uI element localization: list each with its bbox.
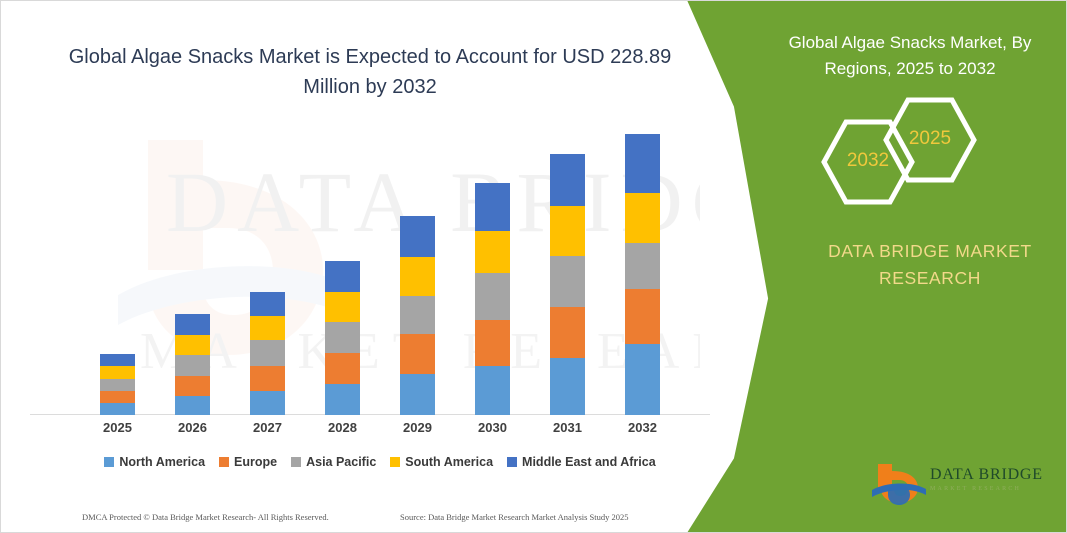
legend-label: South America	[405, 455, 493, 469]
bar-stack	[325, 261, 360, 415]
x-label-2027: 2027	[235, 420, 301, 435]
footer-source: Source: Data Bridge Market Research Mark…	[400, 512, 629, 522]
x-label-2032: 2032	[610, 420, 676, 435]
bar-column-2028[interactable]	[310, 120, 376, 415]
bar-segment-north-america[interactable]	[100, 403, 135, 415]
bar-column-2032[interactable]	[610, 120, 676, 415]
bar-stack	[175, 314, 210, 415]
bar-segment-asia-pacific[interactable]	[100, 379, 135, 391]
bar-column-2030[interactable]	[460, 120, 526, 415]
bar-segment-north-america[interactable]	[550, 358, 585, 415]
legend-swatch-icon	[219, 457, 229, 467]
bar-segment-europe[interactable]	[100, 391, 135, 403]
bar-segment-north-america[interactable]	[475, 366, 510, 415]
panel-brand: DATA BRIDGE MARKET RESEARCH	[800, 238, 1060, 292]
bar-segment-south-america[interactable]	[400, 257, 435, 295]
bar-segment-europe[interactable]	[475, 320, 510, 367]
panel-title: Global Algae Snacks Market, By Regions, …	[770, 30, 1050, 82]
bar-segment-middle-east-and-africa[interactable]	[325, 261, 360, 291]
bar-column-2031[interactable]	[535, 120, 601, 415]
bar-segment-europe[interactable]	[175, 376, 210, 396]
x-label-2029: 2029	[385, 420, 451, 435]
x-label-2026: 2026	[160, 420, 226, 435]
bar-segment-asia-pacific[interactable]	[175, 355, 210, 375]
bar-segment-south-america[interactable]	[625, 193, 660, 244]
data-bridge-mark-icon	[872, 462, 928, 508]
bar-segment-asia-pacific[interactable]	[475, 273, 510, 320]
panel-brand-line-1: DATA BRIDGE MARKET	[800, 238, 1060, 265]
bar-segment-north-america[interactable]	[325, 384, 360, 415]
bar-column-2026[interactable]	[160, 120, 226, 415]
stacked-bar-chart: 20252026202720282029203020312032	[80, 120, 680, 420]
bar-segment-north-america[interactable]	[400, 374, 435, 415]
bar-column-2027[interactable]	[235, 120, 301, 415]
plot-area	[80, 120, 680, 415]
legend-item-europe[interactable]: Europe	[219, 455, 277, 469]
x-label-2028: 2028	[310, 420, 376, 435]
bar-segment-middle-east-and-africa[interactable]	[400, 216, 435, 257]
hexagon-badges: 2032 2025	[820, 96, 1000, 206]
bar-segment-middle-east-and-africa[interactable]	[100, 354, 135, 366]
bar-segment-south-america[interactable]	[550, 206, 585, 257]
bar-segment-europe[interactable]	[550, 307, 585, 359]
bar-column-2025[interactable]	[85, 120, 151, 415]
legend-label: Middle East and Africa	[522, 455, 656, 469]
bar-column-2029[interactable]	[385, 120, 451, 415]
bar-segment-middle-east-and-africa[interactable]	[475, 183, 510, 231]
footer: DMCA Protected © Data Bridge Market Rese…	[0, 505, 700, 529]
bar-stack	[100, 354, 135, 415]
bar-segment-middle-east-and-africa[interactable]	[250, 292, 285, 316]
infographic-root: DATA BRIDGE MARKET RESEARCH Global Algae…	[0, 0, 1067, 533]
x-label-2025: 2025	[85, 420, 151, 435]
bar-segment-europe[interactable]	[325, 353, 360, 383]
bar-segment-south-america[interactable]	[250, 316, 285, 340]
bar-segment-asia-pacific[interactable]	[250, 340, 285, 366]
legend-label: North America	[119, 455, 205, 469]
bar-segment-south-america[interactable]	[325, 292, 360, 322]
legend-label: Europe	[234, 455, 277, 469]
bar-segment-europe[interactable]	[400, 334, 435, 373]
logo-wordmark: DATA BRIDGE	[930, 466, 1043, 484]
bar-stack	[550, 154, 585, 415]
legend-swatch-icon	[291, 457, 301, 467]
x-axis-labels: 20252026202720282029203020312032	[80, 420, 680, 435]
chart-title: Global Algae Snacks Market is Expected t…	[60, 42, 680, 102]
chart-legend: North AmericaEuropeAsia PacificSouth Ame…	[80, 455, 680, 469]
logo-tagline: MARKET RESEARCH	[930, 486, 1021, 492]
bar-stack	[625, 134, 660, 415]
bar-segment-south-america[interactable]	[475, 231, 510, 273]
bar-group	[80, 120, 680, 415]
bar-segment-north-america[interactable]	[625, 344, 660, 415]
bar-segment-south-america[interactable]	[100, 366, 135, 378]
panel-brand-line-2: RESEARCH	[800, 265, 1060, 292]
legend-label: Asia Pacific	[306, 455, 376, 469]
data-bridge-logo: DATA BRIDGE MARKET RESEARCH	[872, 462, 1052, 508]
legend-swatch-icon	[390, 457, 400, 467]
bar-segment-south-america[interactable]	[175, 335, 210, 355]
bar-segment-europe[interactable]	[625, 289, 660, 345]
bar-stack	[475, 183, 510, 415]
bar-segment-middle-east-and-africa[interactable]	[550, 154, 585, 205]
bar-segment-asia-pacific[interactable]	[625, 243, 660, 288]
bar-segment-middle-east-and-africa[interactable]	[175, 314, 210, 335]
bar-segment-asia-pacific[interactable]	[325, 322, 360, 353]
bar-segment-north-america[interactable]	[250, 391, 285, 415]
bar-segment-middle-east-and-africa[interactable]	[625, 134, 660, 193]
legend-item-middle-east-and-africa[interactable]: Middle East and Africa	[507, 455, 656, 469]
bar-segment-asia-pacific[interactable]	[550, 256, 585, 307]
x-label-2030: 2030	[460, 420, 526, 435]
bar-segment-north-america[interactable]	[175, 396, 210, 415]
bar-stack	[250, 292, 285, 415]
legend-item-north-america[interactable]: North America	[104, 455, 205, 469]
legend-swatch-icon	[507, 457, 517, 467]
bar-stack	[400, 216, 435, 415]
x-label-2031: 2031	[535, 420, 601, 435]
legend-swatch-icon	[104, 457, 114, 467]
bar-segment-asia-pacific[interactable]	[400, 296, 435, 334]
legend-item-south-america[interactable]: South America	[390, 455, 493, 469]
bar-segment-europe[interactable]	[250, 366, 285, 390]
footer-copyright: DMCA Protected © Data Bridge Market Rese…	[82, 512, 329, 522]
hexagon-2025-label: 2025	[882, 128, 978, 150]
legend-item-asia-pacific[interactable]: Asia Pacific	[291, 455, 376, 469]
